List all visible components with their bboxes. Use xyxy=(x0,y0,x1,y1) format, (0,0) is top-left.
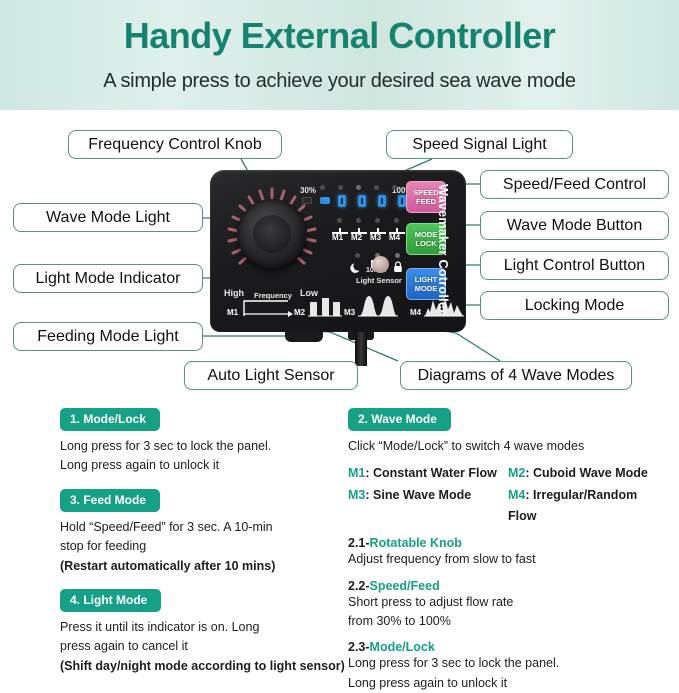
wave-diagram-m3 xyxy=(358,294,398,318)
speed-bar-4 xyxy=(358,195,366,207)
wave-diagram-label-m4: M4 xyxy=(410,308,421,317)
mode-led-m4 xyxy=(394,218,399,223)
callout-diagrams-of-4-wave-modes[interactable]: Diagrams of 4 Wave Modes xyxy=(400,361,632,390)
subsection-name: Speed/Feed xyxy=(370,579,440,593)
wave-mode-m3: M3: Sine Wave Mode xyxy=(348,485,508,528)
mode-led-m2 xyxy=(356,218,361,223)
callout-light-control-button[interactable]: Light Control Button xyxy=(480,251,669,280)
speed-led-5 xyxy=(392,185,397,190)
instruction-line: press again to cancel it xyxy=(60,637,350,656)
subsection-name: Mode/Lock xyxy=(370,640,435,654)
mode-label-m4: M4 xyxy=(389,233,400,242)
mode-label-m1: M1 xyxy=(332,233,343,242)
speed-bar-1 xyxy=(302,197,312,204)
instruction-line: Click “Mode/Lock” to switch 4 wave modes xyxy=(348,437,668,456)
callout-label: Wave Mode Button xyxy=(507,217,642,235)
callout-light-mode-indicator[interactable]: Light Mode Indicator xyxy=(13,264,203,293)
wave-mode-m2: M2: Cuboid Wave Mode xyxy=(508,463,668,484)
wave-mode-desc: : Constant Water Flow xyxy=(365,466,496,480)
callout-locking-mode[interactable]: Locking Mode xyxy=(480,291,669,320)
knob-body[interactable] xyxy=(237,199,307,269)
instruction-line: stop for feeding xyxy=(60,537,350,556)
speed-feed-button-bottom-label: FEED xyxy=(416,197,436,206)
auto-light-sensor xyxy=(372,256,389,273)
wave-mode-desc: : Sine Wave Mode xyxy=(365,488,471,502)
device-cable-post xyxy=(355,332,367,366)
wave-mode-key: M4 xyxy=(508,488,525,502)
callout-speed-feed-control[interactable]: Speed/Feed Control xyxy=(480,170,669,199)
wave-mode-key: M1 xyxy=(348,466,365,480)
instruction-line: (Restart automatically after 10 mins) xyxy=(60,557,350,576)
wave-mode-m4: M4: Irregular/Random Flow xyxy=(508,485,668,528)
instruction-line: Hold “Speed/Feed” for 3 sec. A 10-min xyxy=(60,518,350,537)
speed-bar-6 xyxy=(398,195,406,207)
callout-frequency-control-knob[interactable]: Frequency Control Knob xyxy=(68,130,282,159)
instruction-line: Long press again to unlock it xyxy=(348,674,668,693)
subsection-number: 2.1- xyxy=(348,536,370,550)
instruction-line: Adjust frequency from slow to fast xyxy=(348,550,668,569)
light-sensor-label: Light Sensor xyxy=(356,276,402,285)
callout-wave-mode-button[interactable]: Wave Mode Button xyxy=(480,211,669,240)
subsection-heading-speed-feed: 2.2-Speed/Feed xyxy=(348,579,668,593)
instruction-line: Short press to adjust flow rate xyxy=(348,593,668,612)
callout-speed-signal-light[interactable]: Speed Signal Light xyxy=(386,130,573,159)
speed-bar-5 xyxy=(378,195,386,207)
speed-led-3 xyxy=(356,185,361,190)
night-mode-led xyxy=(355,253,360,258)
wave-mode-key: M2 xyxy=(508,466,525,480)
instructions-left-column: 1. Mode/Lock Long press for 3 sec to loc… xyxy=(60,408,350,689)
device-brand-label: Wavemaker Cotroller xyxy=(434,184,450,324)
speed-led-1 xyxy=(320,185,325,190)
subsection-heading-mode-lock: 2.3-Mode/Lock xyxy=(348,640,668,654)
wave-diagram-label-m3: M3 xyxy=(344,308,355,317)
subsection-heading-rotatable-knob: 2.1-Rotatable Knob xyxy=(348,536,668,550)
mode-label-m3: M3 xyxy=(370,233,381,242)
instruction-line: from 30% to 100% xyxy=(348,612,668,631)
mode-label-m2: M2 xyxy=(351,233,362,242)
subsection-number: 2.2- xyxy=(348,579,370,593)
mode-led-m3 xyxy=(375,218,380,223)
wave-diagram-m2 xyxy=(308,296,342,318)
wave-mode-desc: : Irregular/Random Flow xyxy=(508,488,637,523)
speed-min-label: 30% xyxy=(300,186,316,195)
callout-wave-mode-light[interactable]: Wave Mode Light xyxy=(13,203,203,232)
instruction-block-light-mode: 4. Light Mode Press it until its indicat… xyxy=(60,589,350,676)
subsection-number: 2.3- xyxy=(348,640,370,654)
instructions-right-column: 2. Wave Mode Click “Mode/Lock” to switch… xyxy=(348,408,668,693)
speed-bar-3 xyxy=(338,195,346,207)
instruction-badge: 3. Feed Mode xyxy=(60,489,160,512)
callout-label: Speed Signal Light xyxy=(412,136,546,154)
callout-label: Light Mode Indicator xyxy=(36,270,181,288)
callout-label: Speed/Feed Control xyxy=(503,176,646,194)
instruction-line: Long press for 3 sec to lock the panel. xyxy=(60,437,350,456)
callout-auto-light-sensor[interactable]: Auto Light Sensor xyxy=(184,361,358,390)
lock-mode-led xyxy=(395,253,400,258)
wave-mode-row: M1: Constant Water Flow M2: Cuboid Wave … xyxy=(348,463,668,484)
instruction-line: Long press again to unlock it xyxy=(60,456,350,475)
callout-label: Frequency Control Knob xyxy=(88,136,261,154)
callout-feeding-mode-light[interactable]: Feeding Mode Light xyxy=(13,322,203,351)
wave-mode-m1: M1: Constant Water Flow xyxy=(348,463,508,484)
callout-label: Diagrams of 4 Wave Modes xyxy=(418,367,615,385)
subsection-name: Rotatable Knob xyxy=(370,536,462,550)
wave-mode-row: M3: Sine Wave Mode M4: Irregular/Random … xyxy=(348,485,668,528)
callout-label: Feeding Mode Light xyxy=(37,328,178,346)
moon-icon xyxy=(350,262,362,274)
callout-label: Wave Mode Light xyxy=(46,209,170,227)
wave-diagram-label-m2: M2 xyxy=(294,308,305,317)
wave-mode-desc: : Cuboid Wave Mode xyxy=(525,466,647,480)
instruction-line: Press it until its indicator is on. Long xyxy=(60,618,350,637)
instruction-badge: 4. Light Mode xyxy=(60,589,161,612)
instruction-line: Long press for 3 sec to lock the panel. xyxy=(348,654,668,673)
speed-led-4 xyxy=(374,185,379,190)
speed-led-2 xyxy=(338,185,343,190)
wave-mode-key: M3 xyxy=(348,488,365,502)
callout-label: Light Control Button xyxy=(504,257,645,275)
wave-diagram-label-m1: M1 xyxy=(227,308,238,317)
speed-bar-2 xyxy=(320,197,330,204)
wavemaker-controller-device: 30% 100% M1 M2 M3 M4 10min Light Sensor xyxy=(210,170,466,332)
instruction-line: (Shift day/night mode according to light… xyxy=(60,657,350,676)
instruction-block-feed-mode: 3. Feed Mode Hold “Speed/Feed” for 3 sec… xyxy=(60,489,350,576)
mode-led-m1 xyxy=(337,218,342,223)
callout-label: Locking Mode xyxy=(525,297,625,315)
lock-icon xyxy=(393,261,403,273)
wave-diagram-m1 xyxy=(242,298,294,318)
callout-label: Auto Light Sensor xyxy=(207,367,334,385)
instructions-section: 1. Mode/Lock Long press for 3 sec to loc… xyxy=(0,408,679,667)
knob-high-label: High xyxy=(224,288,244,298)
knob-center xyxy=(253,215,291,253)
